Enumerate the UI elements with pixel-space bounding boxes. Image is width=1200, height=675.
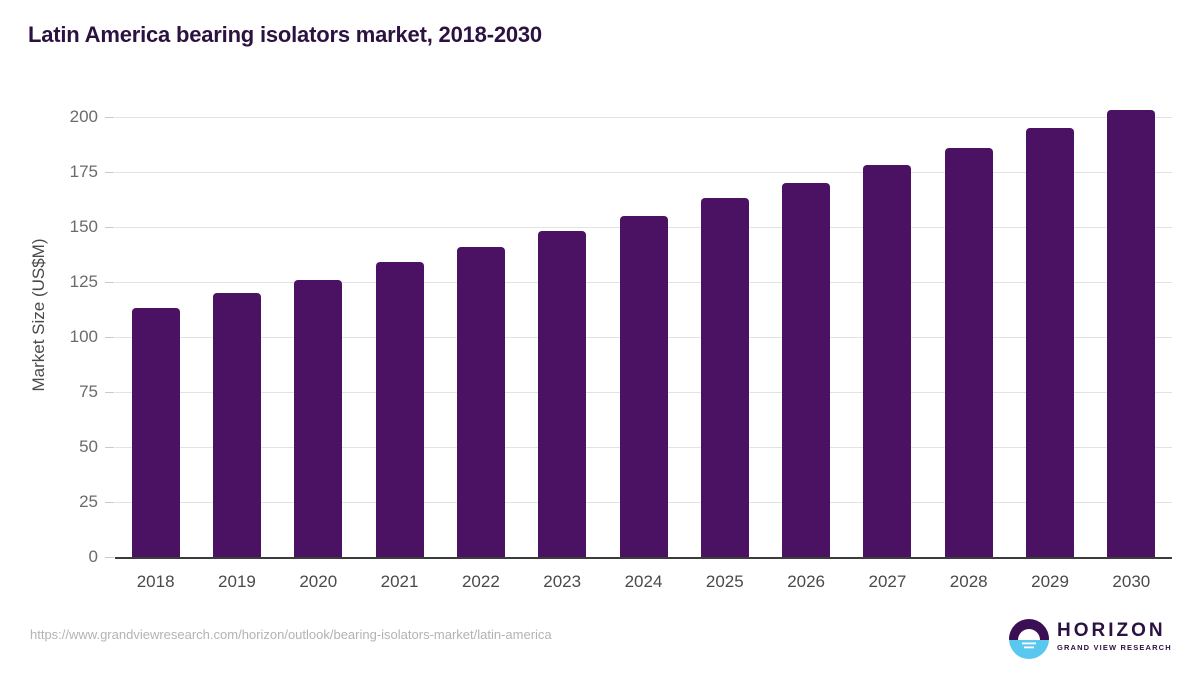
y-tick-label: 50 bbox=[0, 437, 98, 457]
x-tick-label: 2023 bbox=[522, 572, 603, 592]
y-tick-mark bbox=[105, 117, 114, 118]
x-tick-label: 2027 bbox=[847, 572, 928, 592]
bar[interactable] bbox=[457, 247, 505, 557]
gridline bbox=[115, 117, 1172, 118]
bar[interactable] bbox=[945, 148, 993, 557]
bar[interactable] bbox=[1107, 110, 1155, 557]
x-tick-label: 2030 bbox=[1091, 572, 1172, 592]
y-axis-ticks: 0255075100125150175200 bbox=[0, 0, 100, 675]
bar[interactable] bbox=[782, 183, 830, 557]
y-tick-mark bbox=[105, 392, 114, 393]
bar[interactable] bbox=[376, 262, 424, 557]
horizon-logo-text: HORIZON GRAND VIEW RESEARCH bbox=[1057, 621, 1173, 653]
y-tick-mark bbox=[105, 282, 114, 283]
x-tick-label: 2022 bbox=[440, 572, 521, 592]
y-tick-mark bbox=[105, 172, 114, 173]
y-tick-label: 25 bbox=[0, 492, 98, 512]
horizon-logo: HORIZON GRAND VIEW RESEARCH bbox=[1009, 617, 1171, 661]
y-tick-mark bbox=[105, 337, 114, 338]
x-tick-label: 2028 bbox=[928, 572, 1009, 592]
horizon-logo-mark bbox=[1009, 619, 1049, 659]
horizon-logo-word: HORIZON bbox=[1057, 621, 1173, 641]
y-tick-mark bbox=[105, 227, 114, 228]
y-tick-label: 125 bbox=[0, 272, 98, 292]
chart-page: Latin America bearing isolators market, … bbox=[0, 0, 1200, 675]
y-tick-label: 200 bbox=[0, 107, 98, 127]
source-url[interactable]: https://www.grandviewresearch.com/horizo… bbox=[30, 627, 552, 642]
y-tick-label: 100 bbox=[0, 327, 98, 347]
y-tick-label: 75 bbox=[0, 382, 98, 402]
x-tick-label: 2018 bbox=[115, 572, 196, 592]
plot-area bbox=[115, 117, 1172, 557]
bar[interactable] bbox=[132, 308, 180, 557]
y-tick-label: 0 bbox=[0, 547, 98, 567]
x-axis-line bbox=[115, 557, 1172, 559]
y-tick-label: 150 bbox=[0, 217, 98, 237]
y-tick-label: 175 bbox=[0, 162, 98, 182]
x-tick-label: 2021 bbox=[359, 572, 440, 592]
bar[interactable] bbox=[620, 216, 668, 557]
x-tick-label: 2024 bbox=[603, 572, 684, 592]
x-tick-label: 2029 bbox=[1010, 572, 1091, 592]
bar[interactable] bbox=[538, 231, 586, 557]
x-tick-label: 2026 bbox=[766, 572, 847, 592]
x-tick-label: 2019 bbox=[196, 572, 277, 592]
bar[interactable] bbox=[701, 198, 749, 557]
x-tick-label: 2025 bbox=[684, 572, 765, 592]
y-tick-mark bbox=[105, 557, 114, 558]
x-tick-label: 2020 bbox=[278, 572, 359, 592]
bar[interactable] bbox=[213, 293, 261, 557]
bar[interactable] bbox=[1026, 128, 1074, 557]
horizon-logo-subtitle: GRAND VIEW RESEARCH bbox=[1057, 643, 1173, 653]
y-tick-mark bbox=[105, 502, 114, 503]
bar[interactable] bbox=[294, 280, 342, 557]
y-tick-mark bbox=[105, 447, 114, 448]
page-title: Latin America bearing isolators market, … bbox=[28, 22, 542, 48]
bar[interactable] bbox=[863, 165, 911, 557]
gridline bbox=[115, 172, 1172, 173]
